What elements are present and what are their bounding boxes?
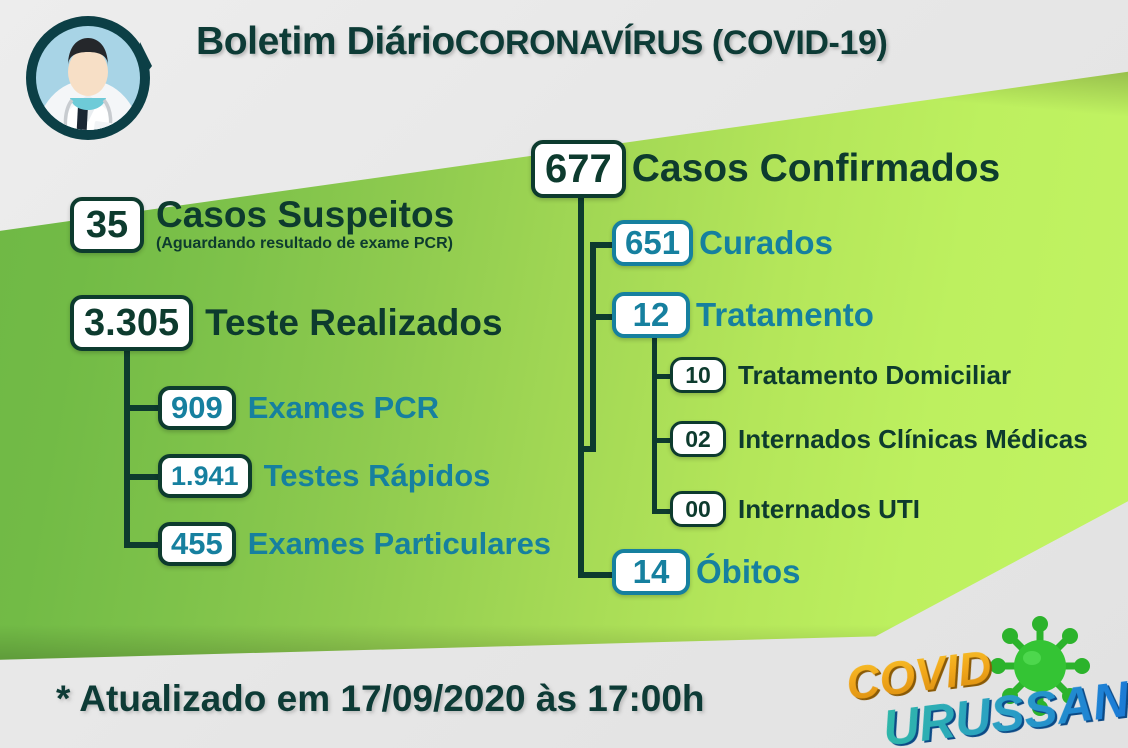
teste-realizados-label: Teste Realizados xyxy=(205,302,502,344)
doctor-avatar-icon xyxy=(20,10,156,146)
tratamento-label: Tratamento xyxy=(696,296,874,334)
exames-pcr-value: 909 xyxy=(158,386,236,430)
exames-particulares-value: 455 xyxy=(158,522,236,566)
tratamento-domiciliar-label: Tratamento Domiciliar xyxy=(738,360,1011,391)
casos-suspeitos-label: Casos Suspeitos xyxy=(156,197,454,232)
tratamento-domiciliar-value: 10 xyxy=(670,357,726,393)
title-sub: CORONAVÍRUS (COVID-19) xyxy=(455,24,888,62)
connector-tratamento-trunk xyxy=(652,338,657,514)
casos-confirmados-label: Casos Confirmados xyxy=(632,147,1000,191)
internados-uti-value: 00 xyxy=(670,491,726,527)
stat-obitos: 14 Óbitos xyxy=(612,549,801,595)
curados-value: 651 xyxy=(612,220,693,266)
stat-casos-suspeitos: 35 Casos Suspeitos (Aguardando resultado… xyxy=(70,197,454,253)
connector-subbranch-trunk xyxy=(590,242,596,452)
internados-uti-label: Internados UTI xyxy=(738,494,920,525)
stat-tratamento: 12 Tratamento xyxy=(612,292,874,338)
covid-bulletin-poster: Boletim DiárioCORONAVÍRUS (COVID-19) 35 … xyxy=(0,0,1128,748)
covid-urussanga-logo: COVID URUSSANGA xyxy=(838,612,1128,742)
tratamento-value: 12 xyxy=(612,292,690,338)
connector-subbranch-join xyxy=(578,446,596,452)
updated-timestamp: * Atualizado em 17/09/2020 às 17:00h xyxy=(56,678,705,720)
obitos-value: 14 xyxy=(612,549,690,595)
stat-exames-pcr: 909 Exames PCR xyxy=(158,386,439,430)
page-title: Boletim DiárioCORONAVÍRUS (COVID-19) xyxy=(196,20,887,64)
connector-testes-trunk xyxy=(124,351,130,545)
header: Boletim DiárioCORONAVÍRUS (COVID-19) xyxy=(0,0,1128,118)
stat-curados: 651 Curados xyxy=(612,220,833,266)
exames-pcr-label: Exames PCR xyxy=(248,390,439,426)
stat-casos-confirmados: 677 Casos Confirmados xyxy=(531,140,1000,198)
casos-confirmados-value: 677 xyxy=(531,140,626,198)
stat-testes-rapidos: 1.941 Testes Rápidos xyxy=(158,454,490,498)
stat-teste-realizados: 3.305 Teste Realizados xyxy=(70,295,503,351)
testes-rapidos-value: 1.941 xyxy=(158,454,252,498)
curados-label: Curados xyxy=(699,224,833,262)
stat-internados-clinicas: 02 Internados Clínicas Médicas xyxy=(670,421,1088,457)
stat-tratamento-domiciliar: 10 Tratamento Domiciliar xyxy=(670,357,1011,393)
title-main: Boletim Diário xyxy=(196,20,455,63)
obitos-label: Óbitos xyxy=(696,553,801,591)
stat-exames-particulares: 455 Exames Particulares xyxy=(158,522,551,566)
casos-suspeitos-value: 35 xyxy=(70,197,144,253)
teste-realizados-value: 3.305 xyxy=(70,295,193,351)
casos-suspeitos-note: (Aguardando resultado de exame PCR) xyxy=(156,235,454,253)
stat-internados-uti: 00 Internados UTI xyxy=(670,491,920,527)
internados-clinicas-label: Internados Clínicas Médicas xyxy=(738,424,1088,455)
connector-confirmados-trunk xyxy=(578,198,584,578)
internados-clinicas-value: 02 xyxy=(670,421,726,457)
testes-rapidos-label: Testes Rápidos xyxy=(264,458,491,494)
exames-particulares-label: Exames Particulares xyxy=(248,526,551,562)
